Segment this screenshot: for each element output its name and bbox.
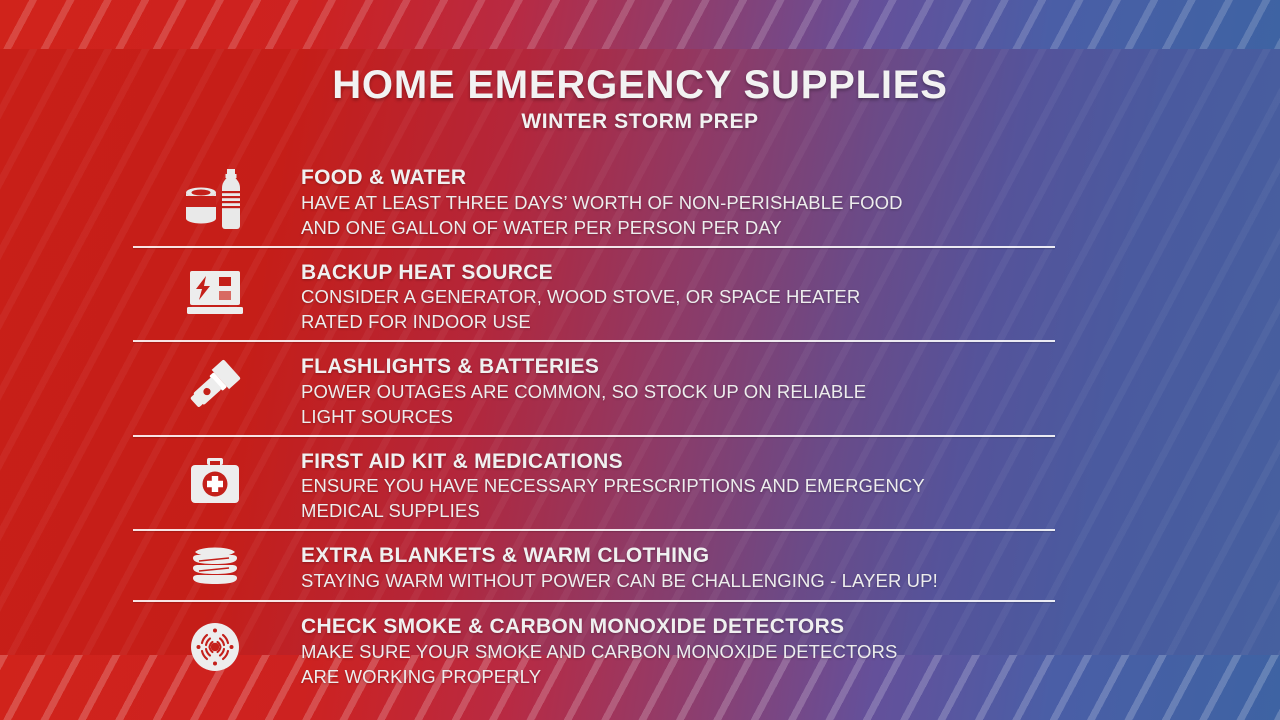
- list-item: FOOD & WATER HAVE AT LEAST THREE DAYS’ W…: [133, 160, 1055, 240]
- list-item-title: FOOD & WATER: [301, 166, 1055, 190]
- generator-heat-source-icon: [133, 255, 301, 331]
- list-item-text: BACKUP HEAT SOURCE CONSIDER A GENERATOR,…: [301, 255, 1055, 335]
- list-item: FIRST AID KIT & MEDICATIONS ENSURE YOU H…: [133, 444, 1055, 524]
- list-divider: [133, 340, 1055, 342]
- list-item: CHECK SMOKE & CARBON MONOXIDE DETECTORS …: [133, 609, 1055, 689]
- page-title: HOME EMERGENCY SUPPLIES: [0, 64, 1280, 106]
- slide-header: HOME EMERGENCY SUPPLIES WINTER STORM PRE…: [0, 64, 1280, 134]
- list-item-description-line1: HAVE AT LEAST THREE DAYS’ WORTH OF NON-P…: [301, 191, 1055, 215]
- list-item-description-line2: AND ONE GALLON OF WATER PER PERSON PER D…: [301, 216, 1055, 240]
- list-item-title: FLASHLIGHTS & BATTERIES: [301, 355, 1055, 379]
- list-item: BACKUP HEAT SOURCE CONSIDER A GENERATOR,…: [133, 255, 1055, 335]
- graphic-slide: HOME EMERGENCY SUPPLIES WINTER STORM PRE…: [0, 0, 1280, 720]
- list-item-description-line1: CONSIDER A GENERATOR, WOOD STOVE, OR SPA…: [301, 285, 1055, 309]
- list-item-text: CHECK SMOKE & CARBON MONOXIDE DETECTORS …: [301, 609, 1055, 689]
- list-item-text: FOOD & WATER HAVE AT LEAST THREE DAYS’ W…: [301, 160, 1055, 240]
- list-divider: [133, 529, 1055, 531]
- list-item-title: CHECK SMOKE & CARBON MONOXIDE DETECTORS: [301, 615, 1055, 639]
- list-item-description-line2: MEDICAL SUPPLIES: [301, 499, 1055, 523]
- first-aid-kit-icon: [133, 444, 301, 520]
- canned-food-and-water-bottle-icon: [133, 160, 301, 236]
- supplies-list: FOOD & WATER HAVE AT LEAST THREE DAYS’ W…: [133, 160, 1055, 689]
- list-item: FLASHLIGHTS & BATTERIES POWER OUTAGES AR…: [133, 349, 1055, 429]
- list-divider: [133, 435, 1055, 437]
- list-item-title: EXTRA BLANKETS & WARM CLOTHING: [301, 544, 1055, 568]
- list-item-description-line2: RATED FOR INDOOR USE: [301, 310, 1055, 334]
- list-item-text: EXTRA BLANKETS & WARM CLOTHING STAYING W…: [301, 538, 1055, 593]
- list-item-text: FIRST AID KIT & MEDICATIONS ENSURE YOU H…: [301, 444, 1055, 524]
- list-divider: [133, 600, 1055, 602]
- list-item-description-line1: ENSURE YOU HAVE NECESSARY PRESCRIPTIONS …: [301, 474, 1055, 498]
- stacked-blankets-icon: [133, 538, 301, 594]
- list-item-description-line1: MAKE SURE YOUR SMOKE AND CARBON MONOXIDE…: [301, 640, 1055, 664]
- list-item-description-line2: ARE WORKING PROPERLY: [301, 665, 1055, 689]
- list-item-description-line2: LIGHT SOURCES: [301, 405, 1055, 429]
- slide-content: HOME EMERGENCY SUPPLIES WINTER STORM PRE…: [0, 0, 1280, 720]
- flashlight-icon: [133, 349, 301, 425]
- list-item-text: FLASHLIGHTS & BATTERIES POWER OUTAGES AR…: [301, 349, 1055, 429]
- smoke-detector-icon: [133, 609, 301, 685]
- list-item-description-line1: POWER OUTAGES ARE COMMON, SO STOCK UP ON…: [301, 380, 1055, 404]
- list-divider: [133, 246, 1055, 248]
- page-subtitle: WINTER STORM PREP: [0, 110, 1280, 134]
- list-item-title: FIRST AID KIT & MEDICATIONS: [301, 450, 1055, 474]
- list-item-title: BACKUP HEAT SOURCE: [301, 261, 1055, 285]
- list-item: EXTRA BLANKETS & WARM CLOTHING STAYING W…: [133, 538, 1055, 594]
- list-item-description-line1: STAYING WARM WITHOUT POWER CAN BE CHALLE…: [301, 569, 1055, 593]
